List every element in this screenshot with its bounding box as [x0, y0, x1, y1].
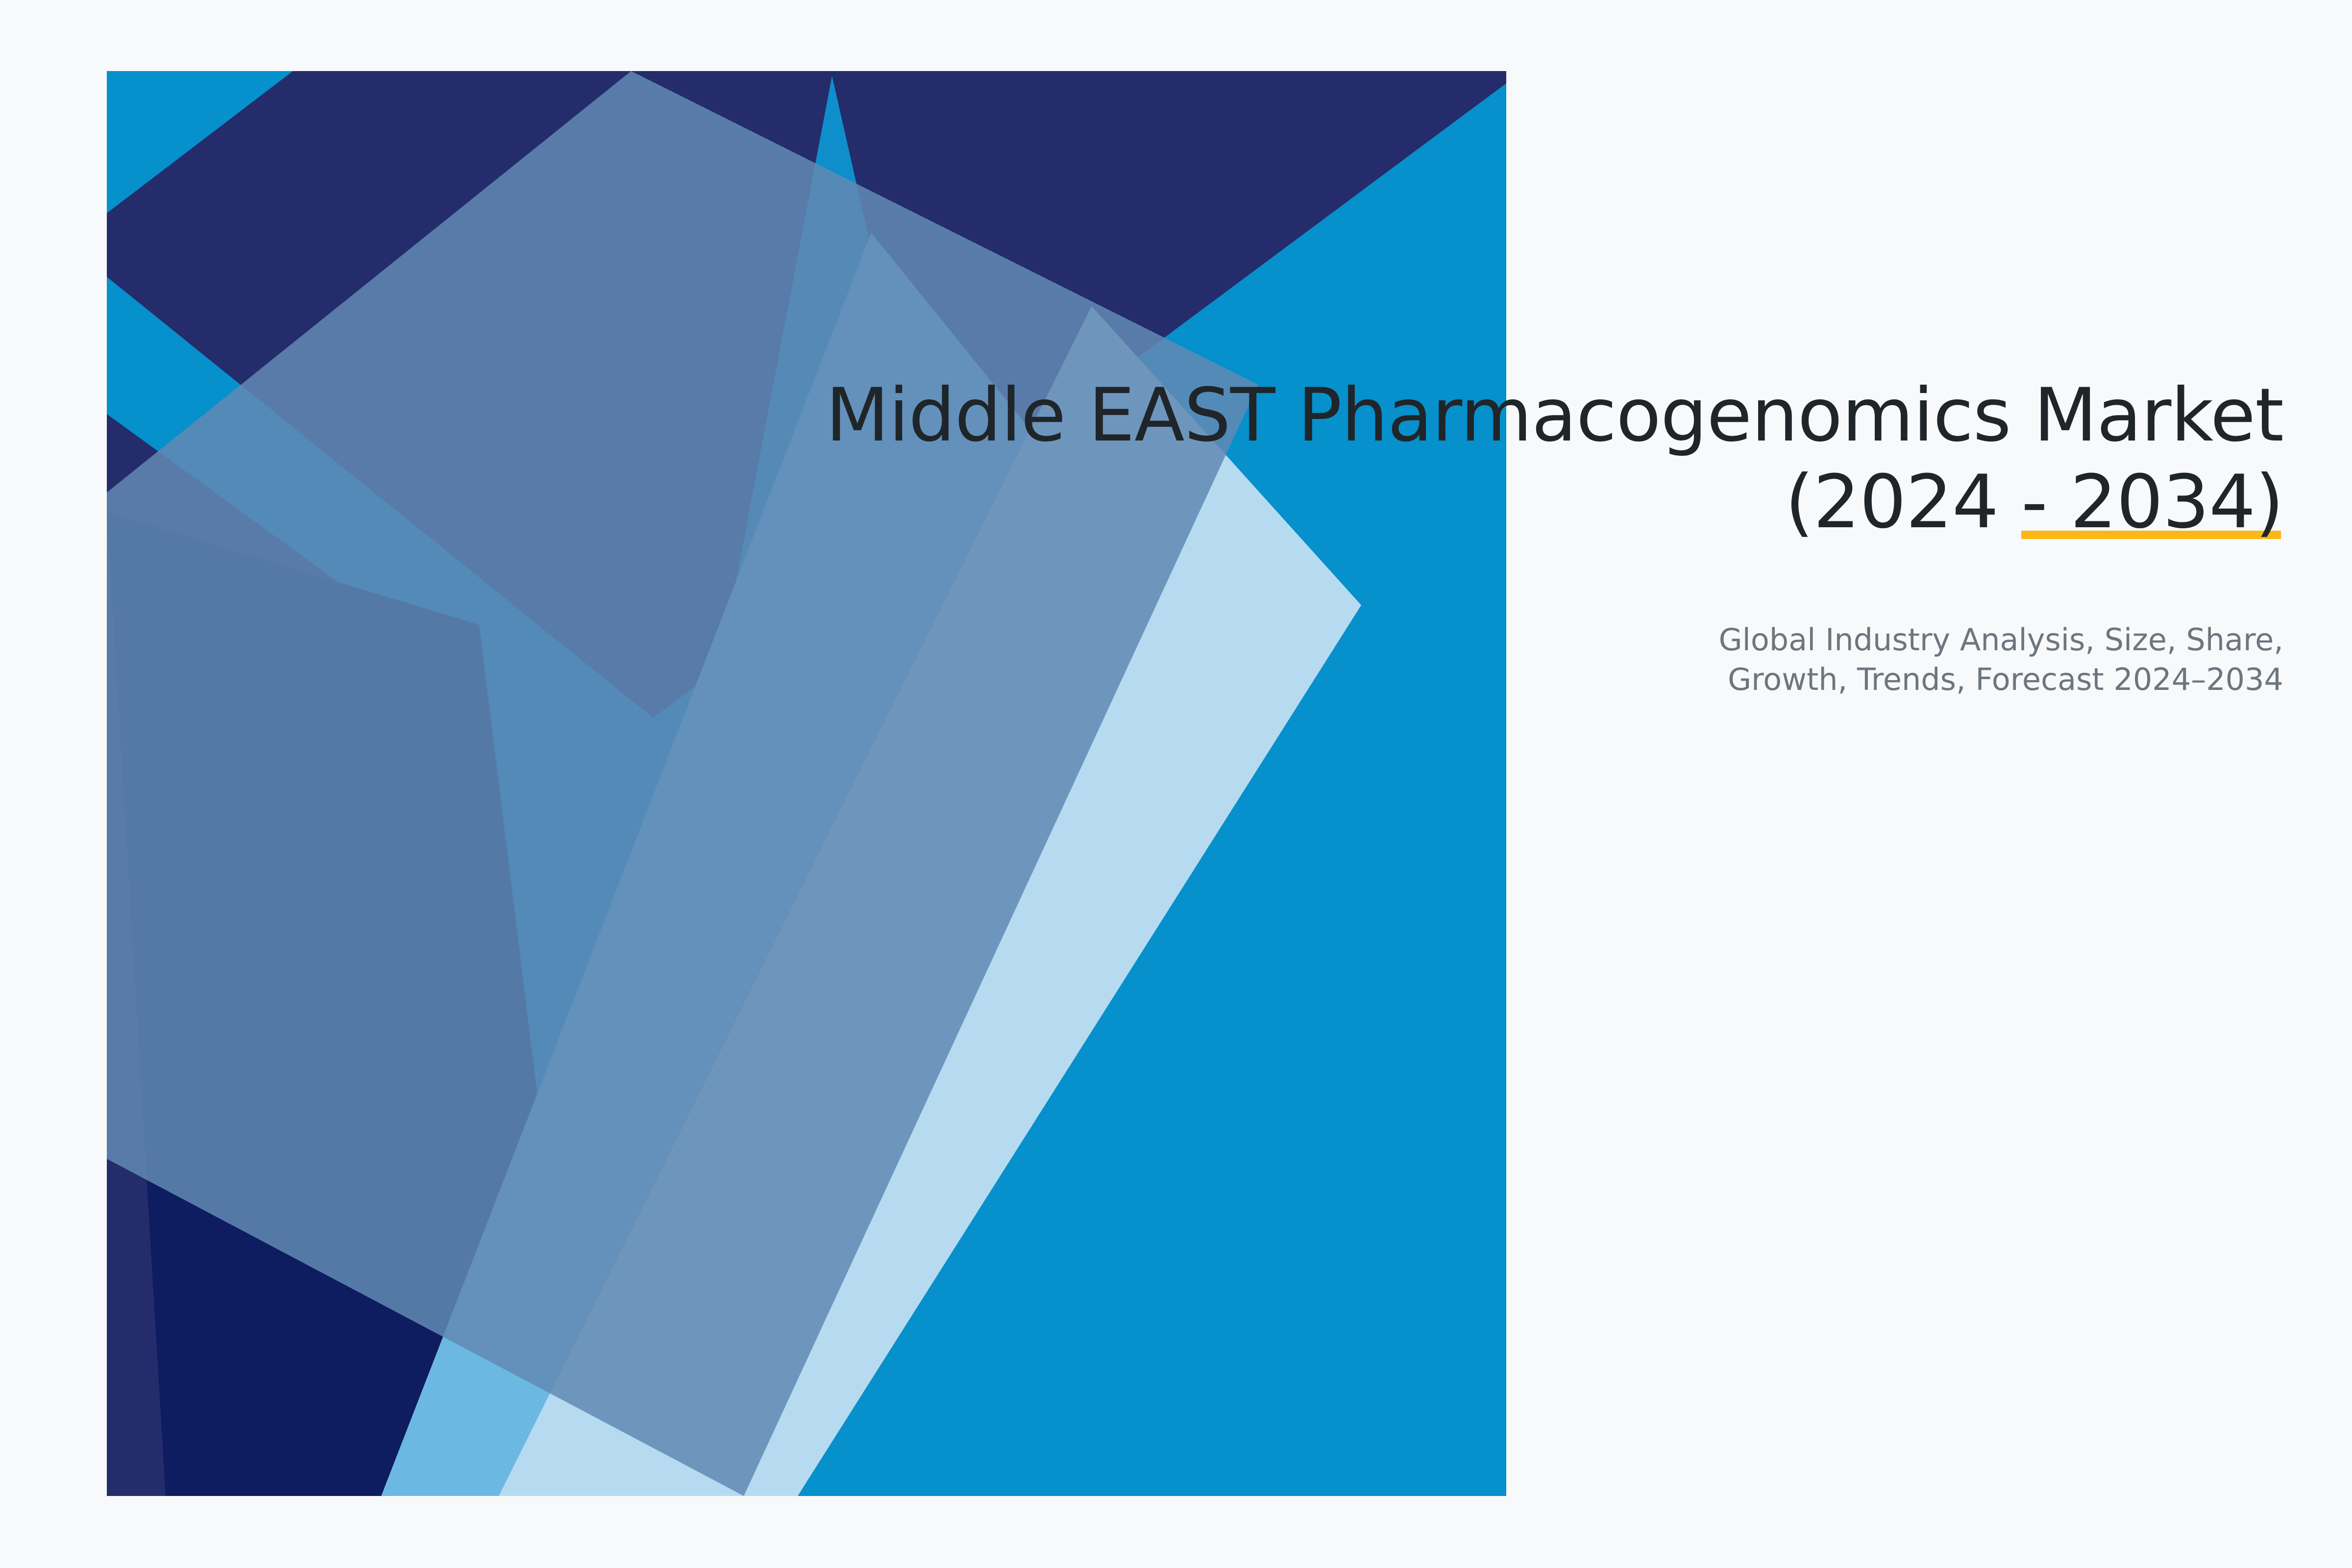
page-subtitle: Global Industry Analysis, Size, Share, G…	[755, 620, 2283, 699]
title-text-block: Middle EAST Pharmacogenomics Market (202…	[755, 372, 2283, 699]
title-slide: Middle EAST Pharmacogenomics Market (202…	[0, 0, 2352, 1568]
page-title: Middle EAST Pharmacogenomics Market (202…	[755, 372, 2283, 546]
abstract-geometric-banner	[107, 71, 1506, 1496]
banner-svg	[107, 71, 1506, 1496]
